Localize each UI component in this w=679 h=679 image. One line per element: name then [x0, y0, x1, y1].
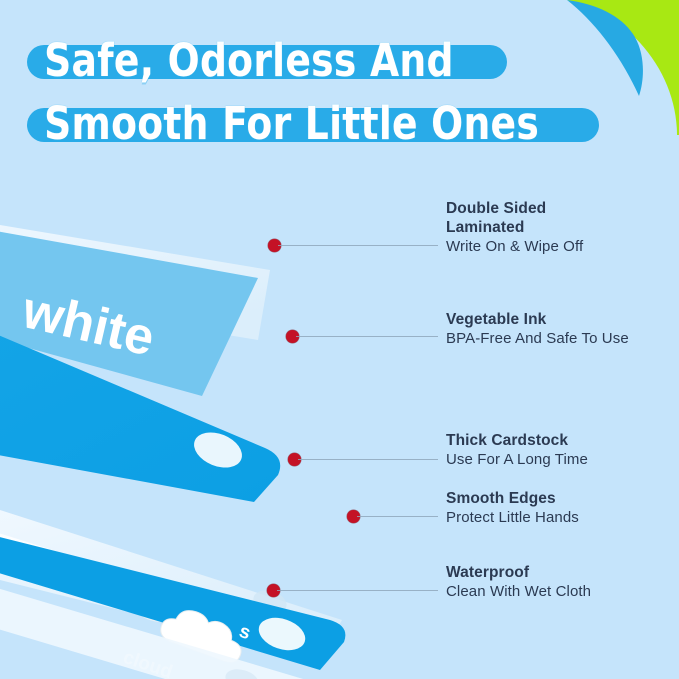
- callout-connector-line: [296, 336, 438, 337]
- callout-label: Vegetable Ink BPA-Free And Safe To Use: [446, 310, 629, 349]
- callout-subtext: BPA-Free And Safe To Use: [446, 329, 629, 349]
- callout-heading-line-2: Laminated: [446, 218, 583, 237]
- headline-block: Safe, Odorless And Smooth For Little One…: [33, 34, 573, 160]
- callout-connector-line: [277, 590, 438, 591]
- headline-line-2: Smooth For Little Ones: [33, 97, 589, 151]
- corner-curl-shape: [567, 0, 643, 96]
- callout-connector-line: [357, 516, 438, 517]
- callout-label: Double Sided Laminated Write On & Wipe O…: [446, 199, 583, 257]
- headline-text-2: Smooth For Little Ones: [33, 97, 550, 151]
- callout-subtext: Protect Little Hands: [446, 508, 579, 528]
- callout-subtext: Use For A Long Time: [446, 450, 588, 470]
- callout-heading-line-1: Double Sided: [446, 199, 583, 218]
- headline-line-1: Safe, Odorless And: [33, 34, 497, 88]
- callout-label: Thick Cardstock Use For A Long Time: [446, 431, 588, 470]
- callout-heading-line-1: Waterproof: [446, 563, 591, 582]
- callout-heading-line-1: Smooth Edges: [446, 489, 579, 508]
- callout-label: Smooth Edges Protect Little Hands: [446, 489, 579, 528]
- callout-connector-line: [298, 459, 438, 460]
- callout-heading-line-1: Thick Cardstock: [446, 431, 588, 450]
- infographic-canvas: Safe, Odorless And Smooth For Little One…: [0, 0, 679, 679]
- callout-connector-line: [278, 245, 438, 246]
- callout-subtext: Clean With Wet Cloth: [446, 582, 591, 602]
- callout-subtext: Write On & Wipe Off: [446, 237, 583, 257]
- callout-heading-line-1: Vegetable Ink: [446, 310, 629, 329]
- headline-text-1: Safe, Odorless And: [33, 34, 465, 88]
- flash-card-stack: white cloud s: [0, 150, 490, 679]
- callout-label: Waterproof Clean With Wet Cloth: [446, 563, 591, 602]
